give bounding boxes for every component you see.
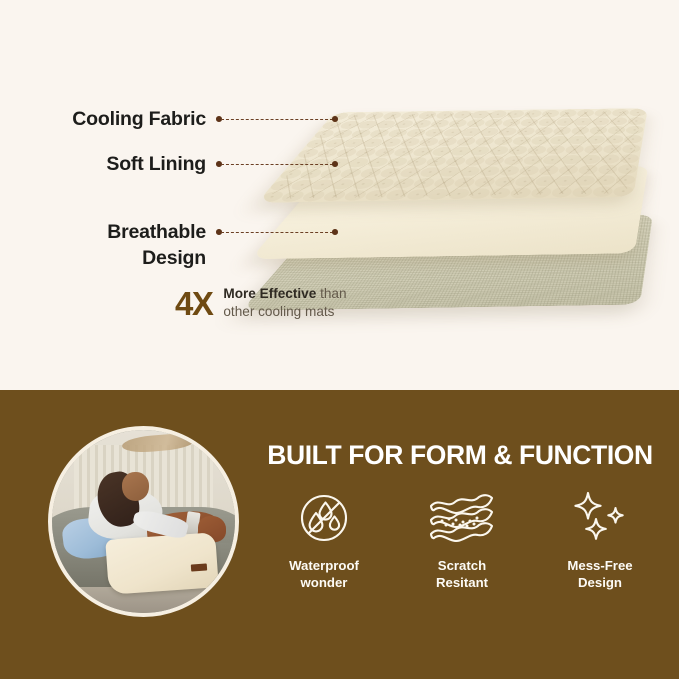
sparkles-icon <box>568 487 632 549</box>
leader-line <box>216 152 338 178</box>
stat-multiplier: 4X <box>175 287 212 320</box>
feature-label: Scratch Resitant <box>436 558 488 591</box>
section-headline: BUILT FOR FORM & FUNCTION <box>255 440 665 471</box>
callout-label-text: Cooling Fabric <box>8 107 216 133</box>
wavy-fabric-icon <box>426 487 498 549</box>
feature-waterproof: Waterproof wonder <box>262 487 386 591</box>
callout-breathable-design: Breathable Design <box>8 220 338 272</box>
waterproof-droplets-icon <box>295 487 353 549</box>
leader-dot-end <box>332 161 338 167</box>
lifestyle-photo <box>48 426 239 617</box>
feature-list: Waterproof wonder <box>262 487 662 591</box>
stat-rest: than <box>316 286 346 301</box>
leader-dash <box>221 119 333 120</box>
leader-dot-end <box>332 116 338 122</box>
callout-cooling-fabric: Cooling Fabric <box>8 107 338 133</box>
leader-line <box>216 220 338 246</box>
feature-label: Waterproof wonder <box>289 558 359 591</box>
feature-scratch-resistant: Scratch Resitant <box>400 487 524 591</box>
callout-label-text: Breathable Design <box>8 220 216 272</box>
product-layers-section: PETSMART Cooling Fabric Soft Lining <box>0 0 679 390</box>
feature-mess-free: Mess-Free Design <box>538 487 662 591</box>
feature-label: Mess-Free Design <box>567 558 632 591</box>
callout-label-text: Soft Lining <box>8 152 216 178</box>
product-infographic: PETSMART Cooling Fabric Soft Lining <box>0 0 679 679</box>
leader-dash <box>221 164 333 165</box>
leader-line <box>216 107 338 133</box>
leader-dot-end <box>332 229 338 235</box>
stat-line2: other cooling mats <box>223 304 334 319</box>
photo-mat-tag <box>191 563 208 571</box>
stat-emphasis: More Effective <box>223 286 316 301</box>
leader-dash <box>221 232 333 233</box>
photo-person-head <box>122 472 149 501</box>
effectiveness-stat: 4X More Effective than other cooling mat… <box>175 285 347 321</box>
stat-description: More Effective than other cooling mats <box>223 285 346 321</box>
callout-soft-lining: Soft Lining <box>8 152 338 178</box>
